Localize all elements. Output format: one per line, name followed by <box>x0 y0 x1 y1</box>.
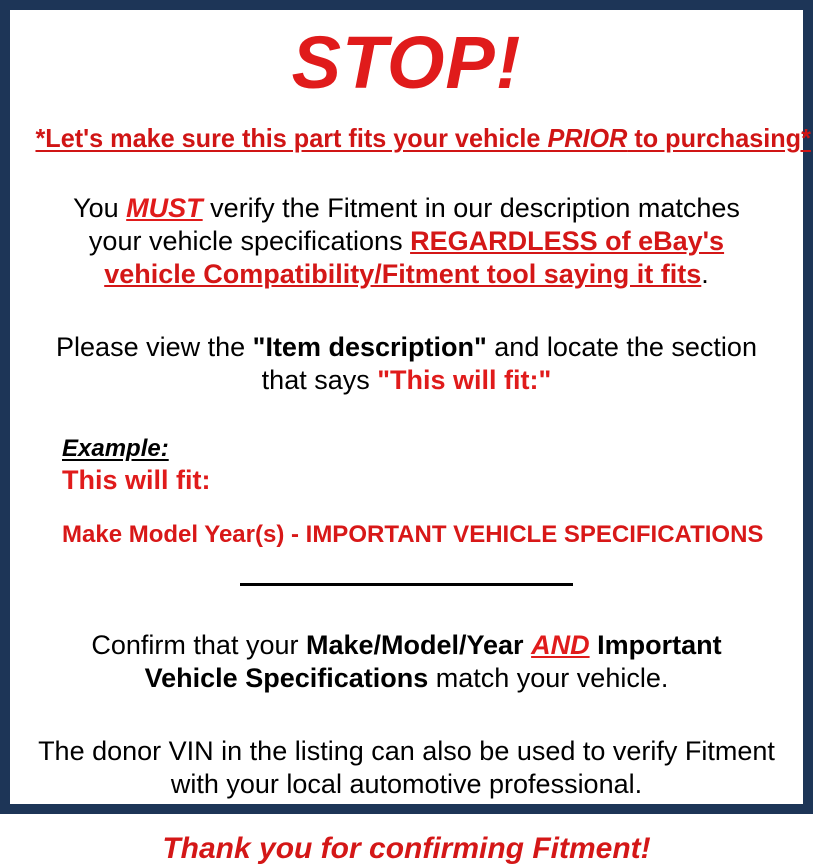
item-description-emphasis: "Item description" <box>253 332 487 362</box>
paragraph-confirm-match: Confirm that your Make/Model/Year AND Im… <box>42 629 771 695</box>
tagline-emphasis-prior: PRIOR <box>547 123 627 153</box>
and-emphasis: AND <box>531 630 590 660</box>
paragraph-view-description: Please view the "Item description" and l… <box>40 331 773 397</box>
notice-content: STOP! *Let's make sure this part fits yo… <box>10 10 803 804</box>
confirm-text-3 <box>590 630 598 660</box>
this-will-fit-emphasis: "This will fit:" <box>377 365 551 395</box>
make-model-year-emphasis: Make/Model/Year <box>306 630 524 660</box>
must-emphasis: MUST <box>126 193 203 223</box>
thank-you-line: Thank you for confirming Fitment! <box>24 831 789 867</box>
fitment-notice-banner: STOP! *Let's make sure this part fits yo… <box>0 0 813 814</box>
example-spec-line: Make Model Year(s) - IMPORTANT VEHICLE S… <box>62 521 789 550</box>
stop-heading: STOP! <box>24 26 789 100</box>
confirm-text-2 <box>524 630 532 660</box>
example-block: Example: This will fit: Make Model Year(… <box>24 435 789 550</box>
confirm-text-4: match your vehicle. <box>428 663 668 693</box>
example-label: Example: <box>62 435 169 463</box>
tagline: *Let's make sure this part fits your veh… <box>35 124 777 154</box>
example-fit-heading: This will fit: <box>62 464 789 496</box>
section-divider <box>240 583 573 586</box>
view-text-1: Please view the <box>56 332 253 362</box>
paragraph-donor-vin: The donor VIN in the listing can also be… <box>34 735 779 801</box>
must-text-3: . <box>701 259 709 289</box>
paragraph-must-verify: You MUST verify the Fitment in our descr… <box>54 192 759 291</box>
tagline-text-before: *Let's make sure this part fits your veh… <box>35 123 547 153</box>
confirm-text-1: Confirm that your <box>91 630 306 660</box>
must-text-1: You <box>73 193 126 223</box>
tagline-text-after: to purchasing* <box>627 123 811 153</box>
divider-wrap <box>24 575 789 593</box>
